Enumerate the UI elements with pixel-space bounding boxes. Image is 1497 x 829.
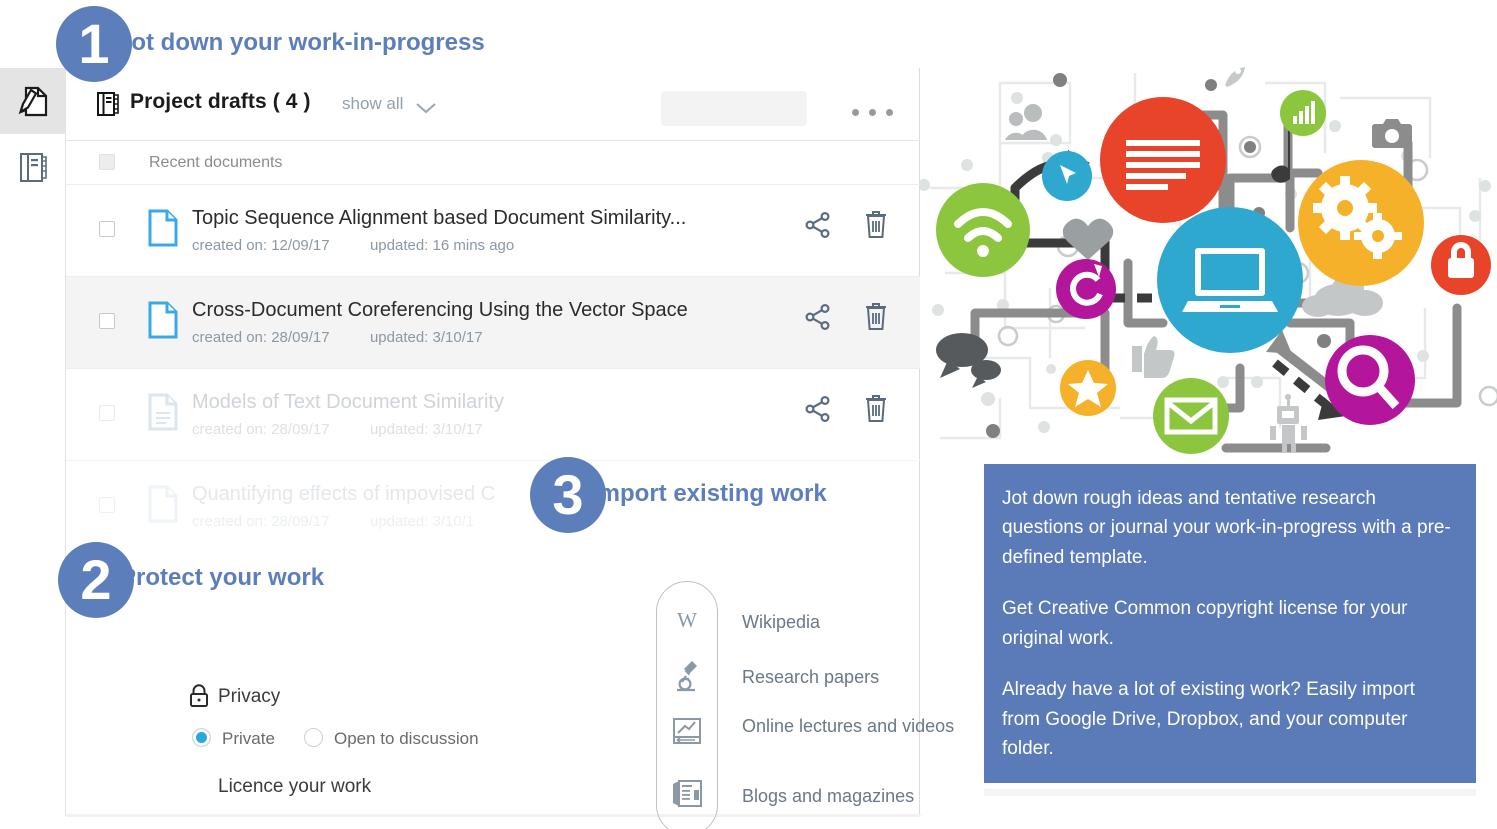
radio-open-to-discussion[interactable] xyxy=(304,728,323,747)
document-icon xyxy=(148,301,178,344)
notebook-icon xyxy=(97,92,120,122)
info-panel-underline xyxy=(984,789,1476,796)
microscope-icon xyxy=(662,657,712,698)
pencil-document-icon xyxy=(18,85,49,118)
document-meta: created on: 12/09/17 updated: 16 mins ag… xyxy=(192,237,514,254)
created-label: created on: 12/09/17 xyxy=(192,237,330,254)
info-paragraph: Jot down rough ideas and tentative resea… xyxy=(1002,484,1458,572)
sidebar-rail xyxy=(0,68,66,816)
created-label: created on: 28/09/17 xyxy=(192,329,330,346)
document-title: Quantifying effects of impovised C xyxy=(192,483,495,506)
step-badge-3: 3 xyxy=(530,457,606,533)
licence-your-work-label[interactable]: Licence your work xyxy=(218,776,371,798)
created-label: created on: 28/09/17 xyxy=(192,421,330,438)
import-item-label: Research papers xyxy=(742,665,879,689)
document-meta: created on: 28/09/17 updated: 3/10/17 xyxy=(192,421,483,438)
lock-icon xyxy=(188,684,210,713)
step-heading-3: Import existing work xyxy=(592,480,827,508)
created-label: created on: 28/09/17 xyxy=(192,513,330,530)
row-checkbox[interactable] xyxy=(99,313,115,329)
list-section-header: Recent documents xyxy=(66,141,920,185)
row-checkbox[interactable] xyxy=(99,497,115,513)
page-title: Project drafts ( 4 ) xyxy=(130,90,311,114)
screen-root: Project drafts ( 4 ) show all Recent doc… xyxy=(0,0,1497,829)
trash-icon[interactable] xyxy=(864,301,888,336)
list-section-label: Recent documents xyxy=(149,154,282,172)
radio-private[interactable] xyxy=(192,728,211,747)
step-badge-1: 1 xyxy=(56,6,132,82)
connected-technology-network-illustration xyxy=(920,58,1497,458)
updated-label: updated: 3/10/17 xyxy=(370,329,483,346)
sidebar-item-drafts[interactable] xyxy=(0,68,66,134)
import-item-label: Wikipedia xyxy=(742,610,820,634)
sidebar-item-notebook[interactable] xyxy=(0,134,66,200)
more-options-icon[interactable] xyxy=(852,109,894,117)
updated-label: updated: 3/10/1 xyxy=(370,513,474,530)
share-icon[interactable] xyxy=(804,303,832,336)
import-item-label: Online lectures and videos xyxy=(742,714,954,738)
panel-header: Project drafts ( 4 ) show all xyxy=(66,68,920,141)
document-icon xyxy=(148,209,178,252)
document-meta: created on: 28/09/17 updated: 3/10/1 xyxy=(192,513,474,530)
step-heading-2: Protect your work xyxy=(120,564,324,592)
info-paragraph: Already have a lot of existing work? Eas… xyxy=(1002,675,1458,763)
select-all-checkbox[interactable] xyxy=(99,154,115,170)
updated-label: updated: 16 mins ago xyxy=(370,237,514,254)
svg-text:W: W xyxy=(677,608,697,632)
chevron-down-icon[interactable] xyxy=(415,102,437,120)
import-item-label: Blogs and magazines xyxy=(742,784,914,808)
share-icon[interactable] xyxy=(804,211,832,244)
document-title: Topic Sequence Alignment based Document … xyxy=(192,207,686,230)
step-heading-1: Jot down your work-in-progress xyxy=(118,29,485,57)
share-icon[interactable] xyxy=(804,395,832,428)
document-icon xyxy=(148,393,178,436)
document-icon xyxy=(148,485,178,528)
table-row[interactable]: Cross-Document Coreferencing Using the V… xyxy=(66,277,920,369)
updated-label: updated: 3/10/17 xyxy=(370,421,483,438)
drafts-panel: Project drafts ( 4 ) show all Recent doc… xyxy=(66,68,920,816)
search-input[interactable] xyxy=(661,91,807,126)
document-title: Cross-Document Coreferencing Using the V… xyxy=(192,299,688,322)
newspaper-icon xyxy=(662,778,712,815)
privacy-label: Privacy xyxy=(218,686,280,708)
panel-bottom-divider xyxy=(66,814,921,817)
trash-icon[interactable] xyxy=(864,393,888,428)
row-checkbox[interactable] xyxy=(99,221,115,237)
wikipedia-w-icon: W xyxy=(662,606,712,639)
step-badge-2: 2 xyxy=(58,542,134,618)
row-checkbox[interactable] xyxy=(99,405,115,421)
notebook-icon xyxy=(19,152,48,183)
document-meta: created on: 28/09/17 updated: 3/10/17 xyxy=(192,329,483,346)
trash-icon[interactable] xyxy=(864,209,888,244)
presentation-board-icon xyxy=(662,716,712,753)
table-row[interactable]: Models of Text Document Similarity creat… xyxy=(66,369,920,461)
radio-private-label: Private xyxy=(222,729,275,749)
info-paragraph: Get Creative Common copyright license fo… xyxy=(1002,594,1458,653)
show-all-link[interactable]: show all xyxy=(342,94,403,114)
document-title: Models of Text Document Similarity xyxy=(192,391,504,414)
table-row[interactable]: Topic Sequence Alignment based Document … xyxy=(66,185,920,277)
info-panel: Jot down rough ideas and tentative resea… xyxy=(984,464,1476,783)
radio-open-to-discussion-label: Open to discussion xyxy=(334,729,479,749)
